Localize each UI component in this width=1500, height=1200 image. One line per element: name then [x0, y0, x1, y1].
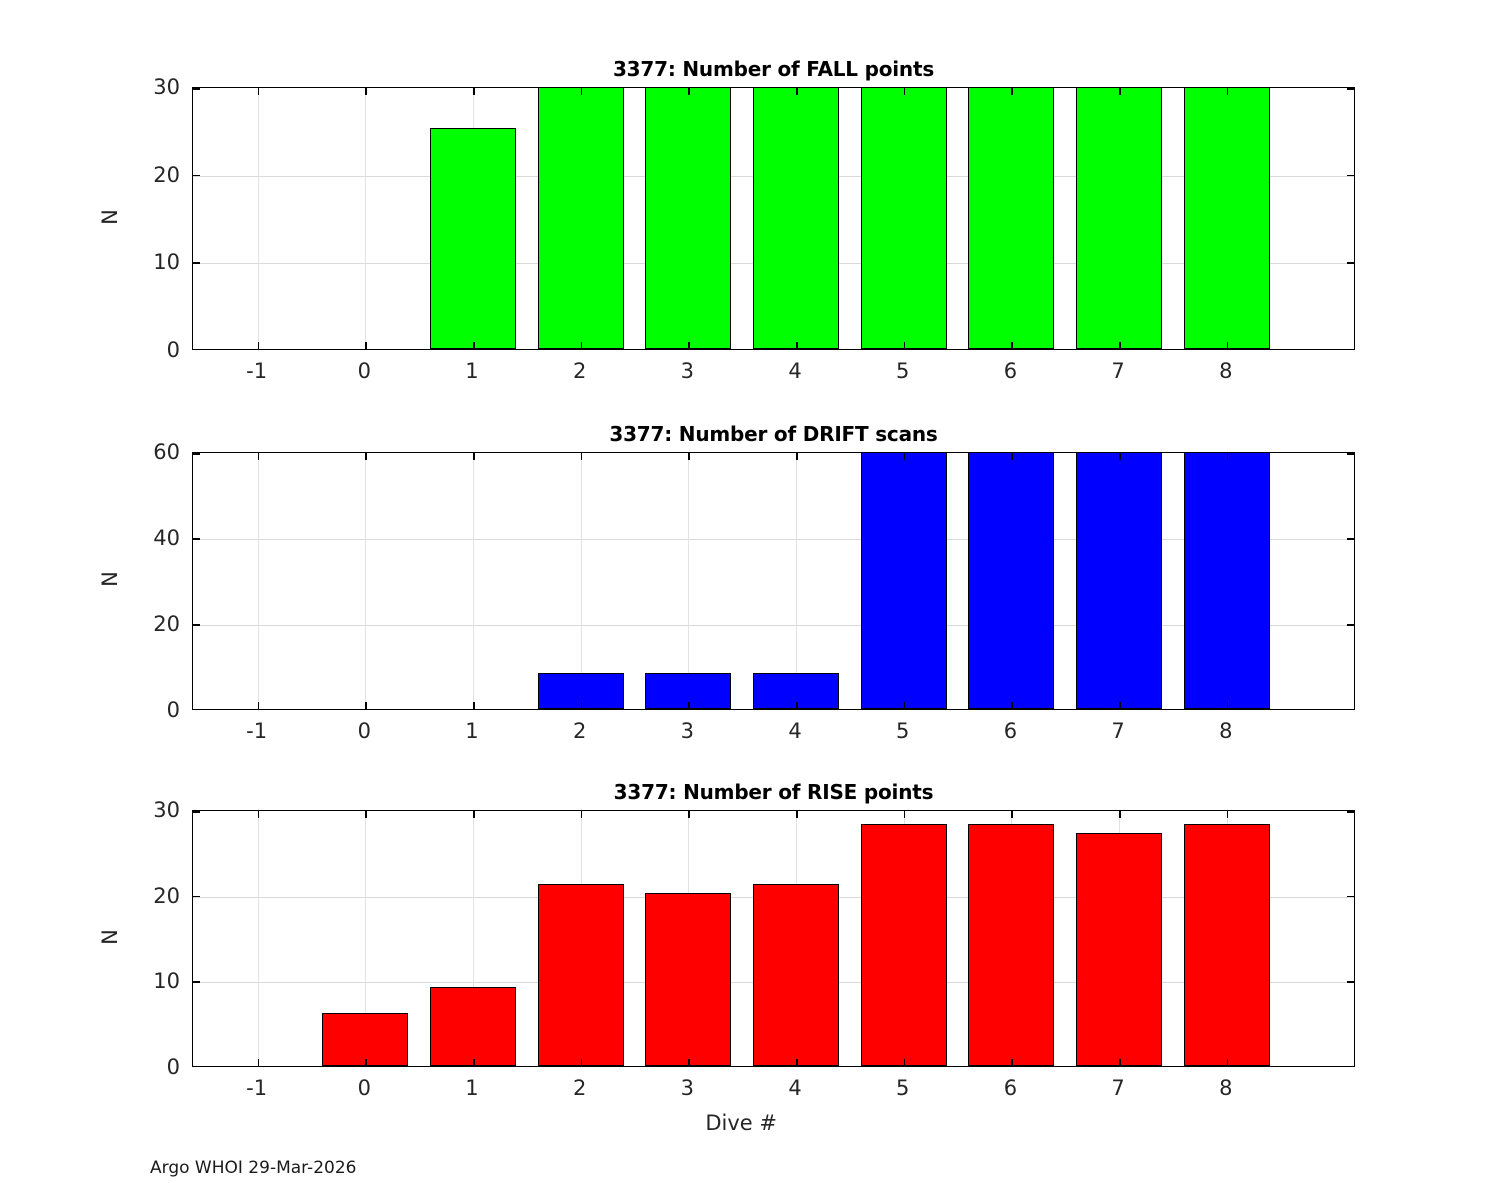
y-tick-mark: [193, 981, 200, 983]
bar: [430, 987, 516, 1066]
x-axis-label: Dive #: [705, 1111, 777, 1135]
y-tick-mark: [1347, 262, 1354, 264]
y-tick-mark: [193, 175, 200, 177]
gridline-vertical: [365, 88, 366, 349]
bar: [861, 87, 947, 349]
x-tick-label: 5: [896, 359, 909, 383]
x-tick-label: -1: [246, 1076, 267, 1100]
y-tick-label: 30: [120, 75, 180, 99]
bar: [968, 824, 1054, 1066]
x-tick-label: 4: [788, 1076, 801, 1100]
x-tick-mark: [1119, 453, 1121, 460]
x-tick-label: 4: [788, 719, 801, 743]
y-tick-mark: [1347, 538, 1354, 540]
x-tick-mark: [1227, 1059, 1229, 1066]
x-tick-mark: [473, 453, 475, 460]
bar: [538, 884, 624, 1066]
y-tick-mark: [193, 262, 200, 264]
x-tick-mark: [473, 342, 475, 349]
bar: [1184, 452, 1270, 709]
x-tick-label: 3: [681, 1076, 694, 1100]
x-tick-mark: [1011, 342, 1013, 349]
x-tick-mark: [473, 1059, 475, 1066]
x-tick-label: 6: [1004, 1076, 1017, 1100]
y-tick-label: 20: [120, 884, 180, 908]
x-tick-mark: [581, 342, 583, 349]
x-tick-mark: [796, 453, 798, 460]
y-tick-label: 0: [120, 698, 180, 722]
y-tick-label: 0: [120, 1055, 180, 1079]
x-tick-mark: [796, 702, 798, 709]
x-tick-label: -1: [246, 359, 267, 383]
x-tick-mark: [1011, 811, 1013, 818]
gridline-vertical: [258, 811, 259, 1066]
x-tick-mark: [365, 453, 367, 460]
x-tick-label: 7: [1111, 1076, 1124, 1100]
gridline-vertical: [473, 453, 474, 709]
x-tick-mark: [904, 702, 906, 709]
bar: [1184, 87, 1270, 349]
y-tick-mark: [193, 811, 200, 813]
x-tick-mark: [688, 88, 690, 95]
x-tick-mark: [904, 88, 906, 95]
panel-title-rise: 3377: Number of RISE points: [192, 780, 1355, 804]
y-tick-mark: [1347, 1066, 1354, 1067]
subplot-rise-points: 3377: Number of RISE points 0102030-1012…: [192, 810, 1355, 1067]
y-tick-label: 20: [120, 612, 180, 636]
x-tick-label: 2: [573, 1076, 586, 1100]
gridline-vertical: [796, 453, 797, 709]
panel-title-fall: 3377: Number of FALL points: [192, 57, 1355, 81]
x-tick-label: 8: [1219, 1076, 1232, 1100]
x-tick-mark: [796, 342, 798, 349]
x-tick-mark: [688, 1059, 690, 1066]
x-tick-mark: [1119, 342, 1121, 349]
x-tick-mark: [1227, 702, 1229, 709]
bar: [1076, 452, 1162, 709]
x-tick-mark: [688, 342, 690, 349]
plot-area-fall: [192, 87, 1355, 350]
x-tick-label: 6: [1004, 359, 1017, 383]
x-tick-mark: [1011, 453, 1013, 460]
x-tick-mark: [1119, 811, 1121, 818]
y-tick-mark: [1347, 349, 1354, 350]
y-tick-label: 0: [120, 338, 180, 362]
x-tick-label: 2: [573, 359, 586, 383]
x-tick-mark: [581, 811, 583, 818]
x-tick-label: 7: [1111, 359, 1124, 383]
x-tick-label: 4: [788, 359, 801, 383]
y-tick-mark: [193, 709, 200, 710]
gridline-vertical: [258, 88, 259, 349]
x-tick-label: 8: [1219, 359, 1232, 383]
x-tick-mark: [473, 702, 475, 709]
subplot-drift-scans: 3377: Number of DRIFT scans 0204060-1012…: [192, 452, 1355, 710]
x-tick-mark: [1119, 702, 1121, 709]
bar: [968, 452, 1054, 709]
x-tick-mark: [473, 88, 475, 95]
bar: [645, 87, 731, 349]
y-axis-label: N: [98, 177, 122, 257]
y-tick-label: 10: [120, 250, 180, 274]
y-tick-mark: [1347, 981, 1354, 983]
x-tick-label: 3: [681, 359, 694, 383]
x-tick-mark: [365, 1059, 367, 1066]
x-tick-label: 5: [896, 719, 909, 743]
y-tick-mark: [193, 453, 200, 455]
x-tick-mark: [904, 811, 906, 818]
bar: [538, 87, 624, 349]
gridline-vertical: [365, 453, 366, 709]
subplot-fall-points: 3377: Number of FALL points 0102030-1012…: [192, 87, 1355, 350]
x-tick-mark: [581, 702, 583, 709]
x-tick-mark: [796, 1059, 798, 1066]
plot-area-drift: [192, 452, 1355, 710]
y-tick-mark: [193, 349, 200, 350]
x-tick-mark: [1119, 88, 1121, 95]
y-axis-label: N: [98, 897, 122, 977]
y-tick-label: 20: [120, 163, 180, 187]
y-tick-label: 40: [120, 526, 180, 550]
gridline-vertical: [258, 453, 259, 709]
x-tick-label: 3: [681, 719, 694, 743]
x-tick-mark: [258, 88, 260, 95]
bar: [753, 884, 839, 1066]
x-tick-label: -1: [246, 719, 267, 743]
y-tick-mark: [193, 538, 200, 540]
gridline-vertical: [581, 453, 582, 709]
x-tick-mark: [796, 811, 798, 818]
x-tick-mark: [581, 88, 583, 95]
x-tick-label: 7: [1111, 719, 1124, 743]
y-tick-mark: [193, 1066, 200, 1067]
bar: [1076, 833, 1162, 1066]
y-tick-mark: [1347, 709, 1354, 710]
x-tick-label: 0: [358, 1076, 371, 1100]
x-tick-mark: [258, 811, 260, 818]
x-tick-label: 0: [358, 359, 371, 383]
x-tick-label: 0: [358, 719, 371, 743]
x-tick-mark: [1227, 342, 1229, 349]
bar: [322, 1013, 408, 1066]
x-tick-mark: [904, 342, 906, 349]
bar: [1076, 87, 1162, 349]
y-tick-mark: [1347, 811, 1354, 813]
y-tick-mark: [1347, 624, 1354, 626]
x-tick-mark: [796, 88, 798, 95]
bar: [861, 824, 947, 1066]
x-tick-mark: [258, 342, 260, 349]
x-tick-mark: [688, 811, 690, 818]
x-tick-mark: [581, 1059, 583, 1066]
y-tick-mark: [193, 88, 200, 90]
x-tick-mark: [688, 702, 690, 709]
y-tick-label: 10: [120, 969, 180, 993]
x-tick-mark: [473, 811, 475, 818]
x-tick-mark: [1227, 453, 1229, 460]
y-tick-mark: [193, 896, 200, 898]
bar: [968, 87, 1054, 349]
y-tick-label: 30: [120, 798, 180, 822]
figure-footer-note: Argo WHOI 29-Mar-2026: [150, 1158, 356, 1178]
x-tick-label: 2: [573, 719, 586, 743]
gridline-vertical: [688, 453, 689, 709]
gridline-horizontal: [193, 625, 1354, 626]
y-tick-mark: [193, 624, 200, 626]
x-tick-mark: [258, 1059, 260, 1066]
bar: [430, 128, 516, 349]
x-tick-mark: [258, 702, 260, 709]
x-tick-label: 8: [1219, 719, 1232, 743]
bar: [645, 893, 731, 1066]
x-tick-mark: [365, 342, 367, 349]
figure-canvas: 3377: Number of FALL points 0102030-1012…: [0, 0, 1500, 1200]
x-tick-mark: [1011, 702, 1013, 709]
x-tick-label: 5: [896, 1076, 909, 1100]
bar: [1184, 824, 1270, 1066]
y-tick-mark: [1347, 88, 1354, 90]
x-tick-mark: [258, 453, 260, 460]
y-tick-mark: [1347, 453, 1354, 455]
y-axis-label: N: [98, 539, 122, 619]
x-tick-label: 1: [465, 719, 478, 743]
x-tick-mark: [1011, 88, 1013, 95]
x-tick-mark: [581, 453, 583, 460]
y-tick-mark: [1347, 175, 1354, 177]
plot-area-rise: [192, 810, 1355, 1067]
panel-title-drift: 3377: Number of DRIFT scans: [192, 422, 1355, 446]
x-tick-label: 6: [1004, 719, 1017, 743]
gridline-horizontal: [193, 539, 1354, 540]
x-tick-mark: [1011, 1059, 1013, 1066]
x-tick-mark: [904, 453, 906, 460]
x-tick-label: 1: [465, 359, 478, 383]
x-tick-mark: [1119, 1059, 1121, 1066]
bar: [861, 452, 947, 709]
x-tick-mark: [688, 453, 690, 460]
x-tick-mark: [365, 811, 367, 818]
y-tick-mark: [1347, 896, 1354, 898]
x-tick-mark: [365, 702, 367, 709]
x-tick-mark: [1227, 811, 1229, 818]
x-tick-mark: [1227, 88, 1229, 95]
x-tick-label: 1: [465, 1076, 478, 1100]
x-tick-mark: [904, 1059, 906, 1066]
y-tick-label: 60: [120, 440, 180, 464]
x-tick-mark: [365, 88, 367, 95]
bar: [753, 87, 839, 349]
